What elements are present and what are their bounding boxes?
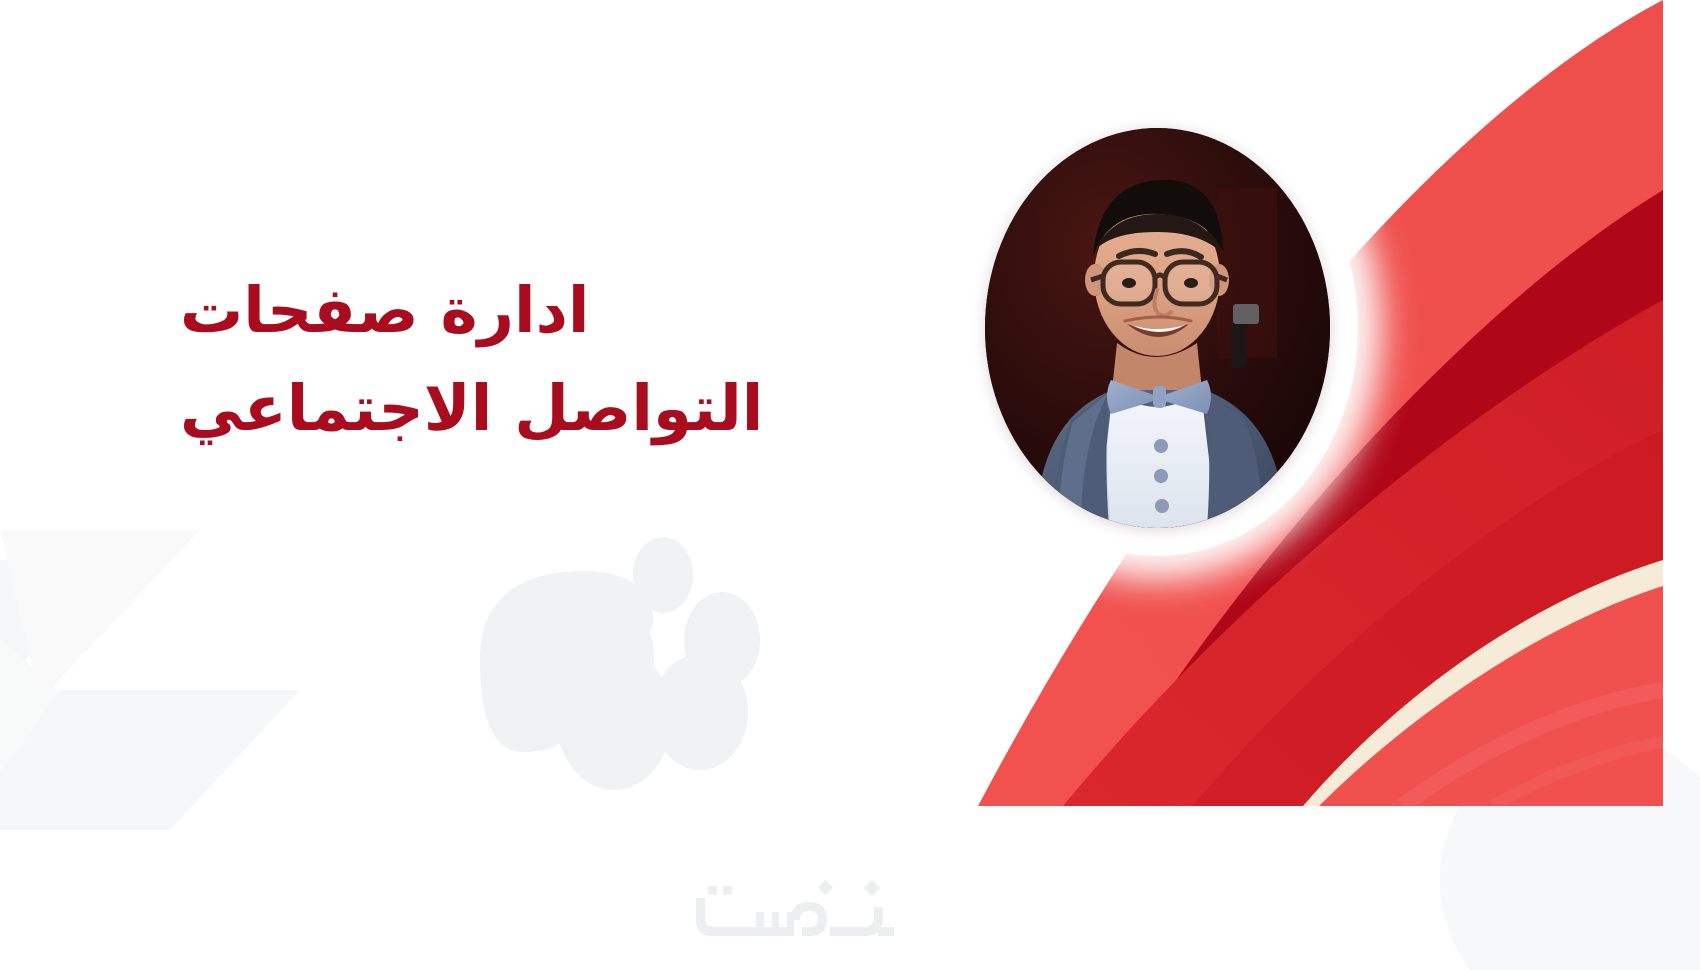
khamsat-logo-icon [690, 876, 900, 950]
blob-crescent [480, 571, 653, 752]
blob-large-left [542, 590, 654, 726]
blob-right-lower [652, 654, 748, 770]
avatar [985, 128, 1330, 528]
portrait-container [985, 128, 1330, 528]
blob-small-right [684, 592, 760, 688]
blob-decor-group [480, 537, 760, 790]
chevron-shape-3 [0, 690, 300, 830]
slide-canvas: ادارة صفحات التواصل الاجتماعي [0, 0, 1700, 970]
chevron-shape-2 [0, 620, 180, 800]
avatar-photo-icon [985, 128, 1330, 528]
khamsat-watermark [690, 876, 900, 950]
chevron-shape-4 [0, 530, 200, 700]
headline-line-1: ادارة صفحات [180, 262, 880, 360]
blob-small-top [633, 537, 693, 613]
headline-line-2: التواصل الاجتماعي [180, 360, 880, 458]
chevron-decor-group [0, 530, 300, 830]
chevron-shape-1 [0, 560, 110, 760]
blob-large-center [556, 646, 672, 790]
page-title: ادارة صفحات التواصل الاجتماعي [180, 262, 880, 457]
